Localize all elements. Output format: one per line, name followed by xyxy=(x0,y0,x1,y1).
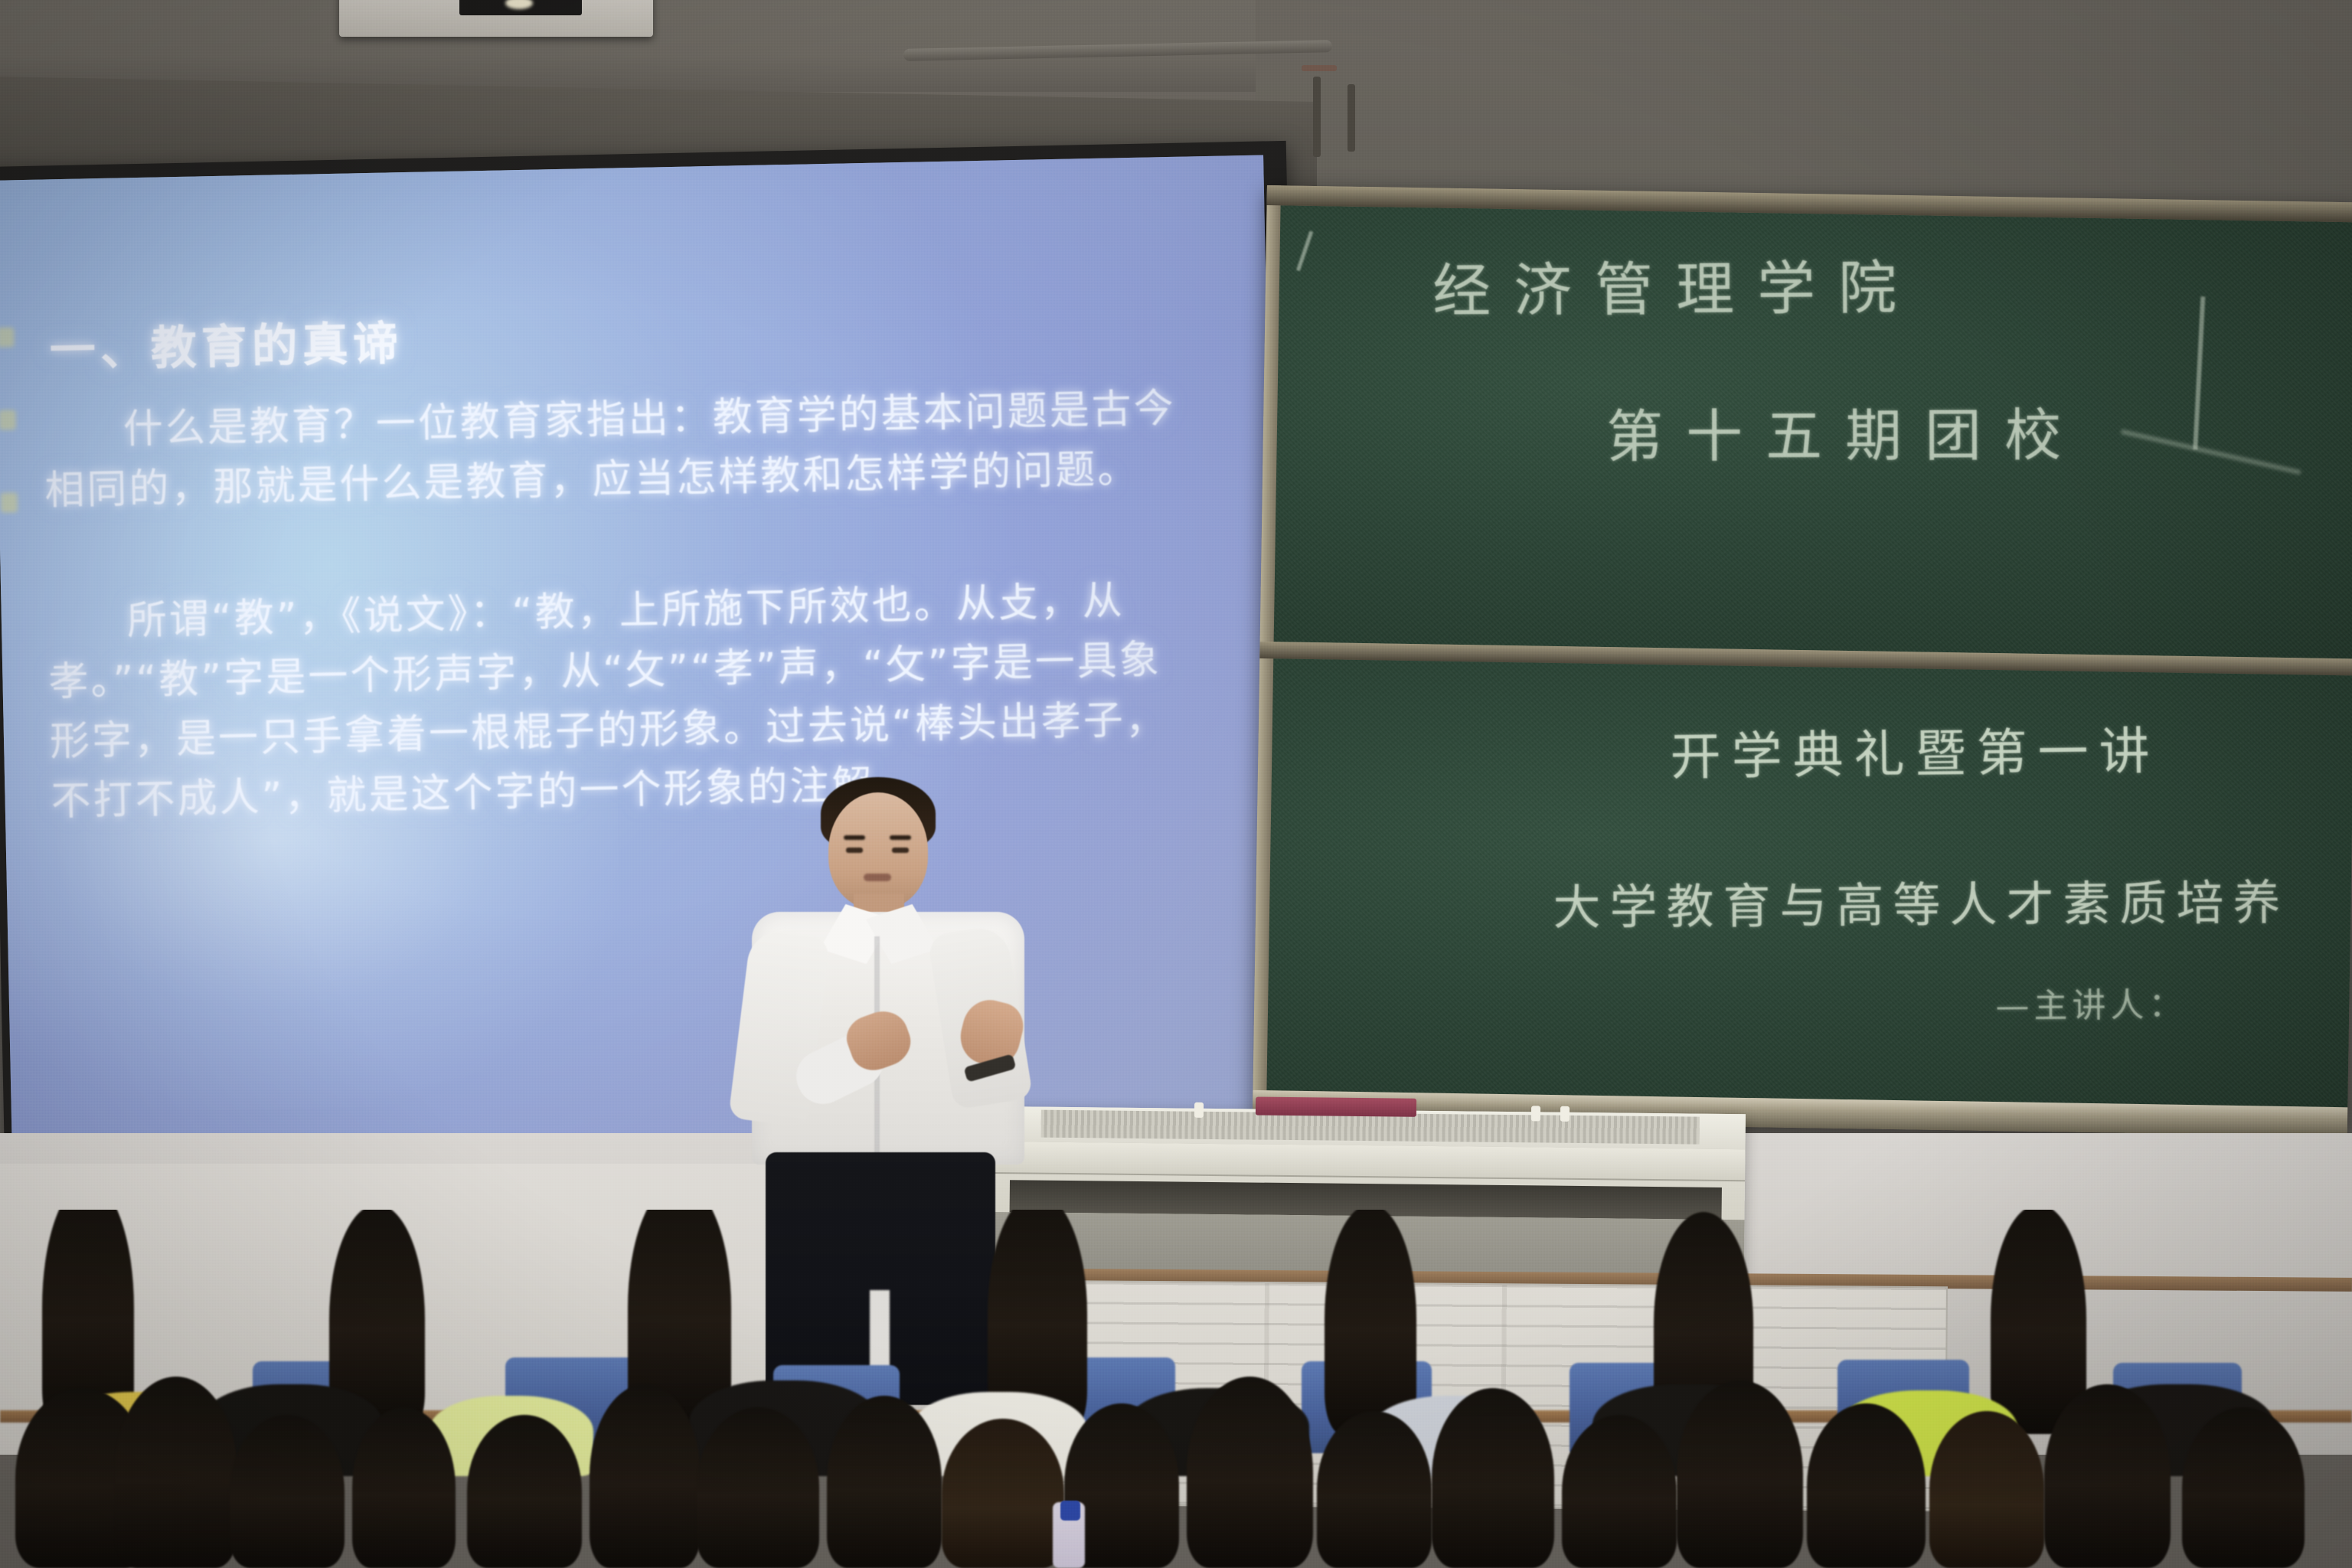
audience-head xyxy=(230,1415,345,1568)
pipe-hanger xyxy=(1313,77,1321,157)
blackboard-upper-panel: 经济管理学院 第十五期团校 xyxy=(1274,205,2352,658)
podium-knob-right-2[interactable] xyxy=(1560,1106,1570,1122)
water-bottle-cap xyxy=(1060,1501,1080,1521)
audience-head xyxy=(1807,1403,1926,1568)
audience-seating xyxy=(0,1210,2352,1568)
slide-heading: 一、教育的真谛 xyxy=(49,306,404,380)
chalk-swipe-mark xyxy=(2121,430,2301,475)
audience-head xyxy=(1187,1377,1313,1568)
audience-head xyxy=(115,1377,237,1568)
audience-head xyxy=(590,1384,701,1568)
audience-head xyxy=(352,1407,456,1568)
slide-paragraph-1: 什么是教育？一位教育家指出：教育学的基本问题是古今相同的，那就是什么是教育，应当… xyxy=(43,379,1186,521)
projection-screen-surface: 一、教育的真谛 什么是教育？一位教育家指出：教育学的基本问题是古今相同的，那就是… xyxy=(0,155,1283,1160)
chalk-stray-mark xyxy=(1296,230,1313,271)
audience-head xyxy=(942,1419,1064,1568)
projection-screen-frame: 一、教育的真谛 什么是教育？一位教育家指出：教育学的基本问题是古今相同的，那就是… xyxy=(0,141,1306,1178)
presenter-mouth xyxy=(864,874,891,881)
audience-head xyxy=(697,1407,819,1568)
lecture-hall-photo: 一、教育的真谛 什么是教育？一位教育家指出：教育学的基本问题是古今相同的，那就是… xyxy=(0,0,2352,1568)
blackboard-line-institution: 经济管理学院 xyxy=(1432,240,1920,328)
presentation-slide: 一、教育的真谛 什么是教育？一位教育家指出：教育学的基本问题是古今相同的，那就是… xyxy=(0,155,1283,1160)
slide-bullet-marker-2 xyxy=(0,410,16,430)
wall-mark xyxy=(1302,65,1337,71)
presenter-head xyxy=(828,792,928,909)
audience-head xyxy=(1317,1411,1432,1568)
podium-knob-left[interactable] xyxy=(1194,1102,1204,1118)
slide-bullet-marker-1 xyxy=(0,327,15,347)
audience-head xyxy=(1562,1415,1677,1568)
presenter-eye-right xyxy=(892,848,909,853)
audience-head xyxy=(1929,1411,2044,1568)
presenter-brow-right xyxy=(890,835,911,840)
presenter-eye-left xyxy=(846,848,863,853)
podium-red-item xyxy=(1256,1097,1416,1117)
audience-head xyxy=(827,1396,942,1568)
blackboard-line-topic: 大学教育与高等人才素质培养 xyxy=(1553,864,2290,938)
blackboard-line-session: 第十五期团校 xyxy=(1606,390,2084,473)
audience-head xyxy=(1677,1380,1803,1568)
podium-knob-right[interactable] xyxy=(1531,1106,1540,1121)
chalk-stray-stroke xyxy=(2193,296,2205,449)
blackboard-line-ceremony: 开学典礼暨第一讲 xyxy=(1670,710,2161,789)
pipe-hanger-secondary xyxy=(1347,84,1355,152)
slide-bullet-marker-3 xyxy=(1,492,18,512)
audience-head xyxy=(2182,1407,2305,1568)
blackboard: 经济管理学院 第十五期团校 开学典礼暨第一讲 大学教育与高等人才素质培养 —主讲… xyxy=(1253,185,2352,1136)
podium-front-lip xyxy=(995,1142,1745,1181)
presenter-brow-left xyxy=(844,835,865,840)
audience-head xyxy=(1432,1388,1554,1568)
audience-head xyxy=(2044,1384,2171,1568)
audience-head-back-row xyxy=(1325,1210,1416,1434)
blackboard-lower-panel: 开学典礼暨第一讲 大学教育与高等人才素质培养 —主讲人： xyxy=(1266,658,2352,1107)
audience-head xyxy=(467,1415,582,1568)
blackboard-line-presenter: —主讲人： xyxy=(1995,977,2187,1027)
